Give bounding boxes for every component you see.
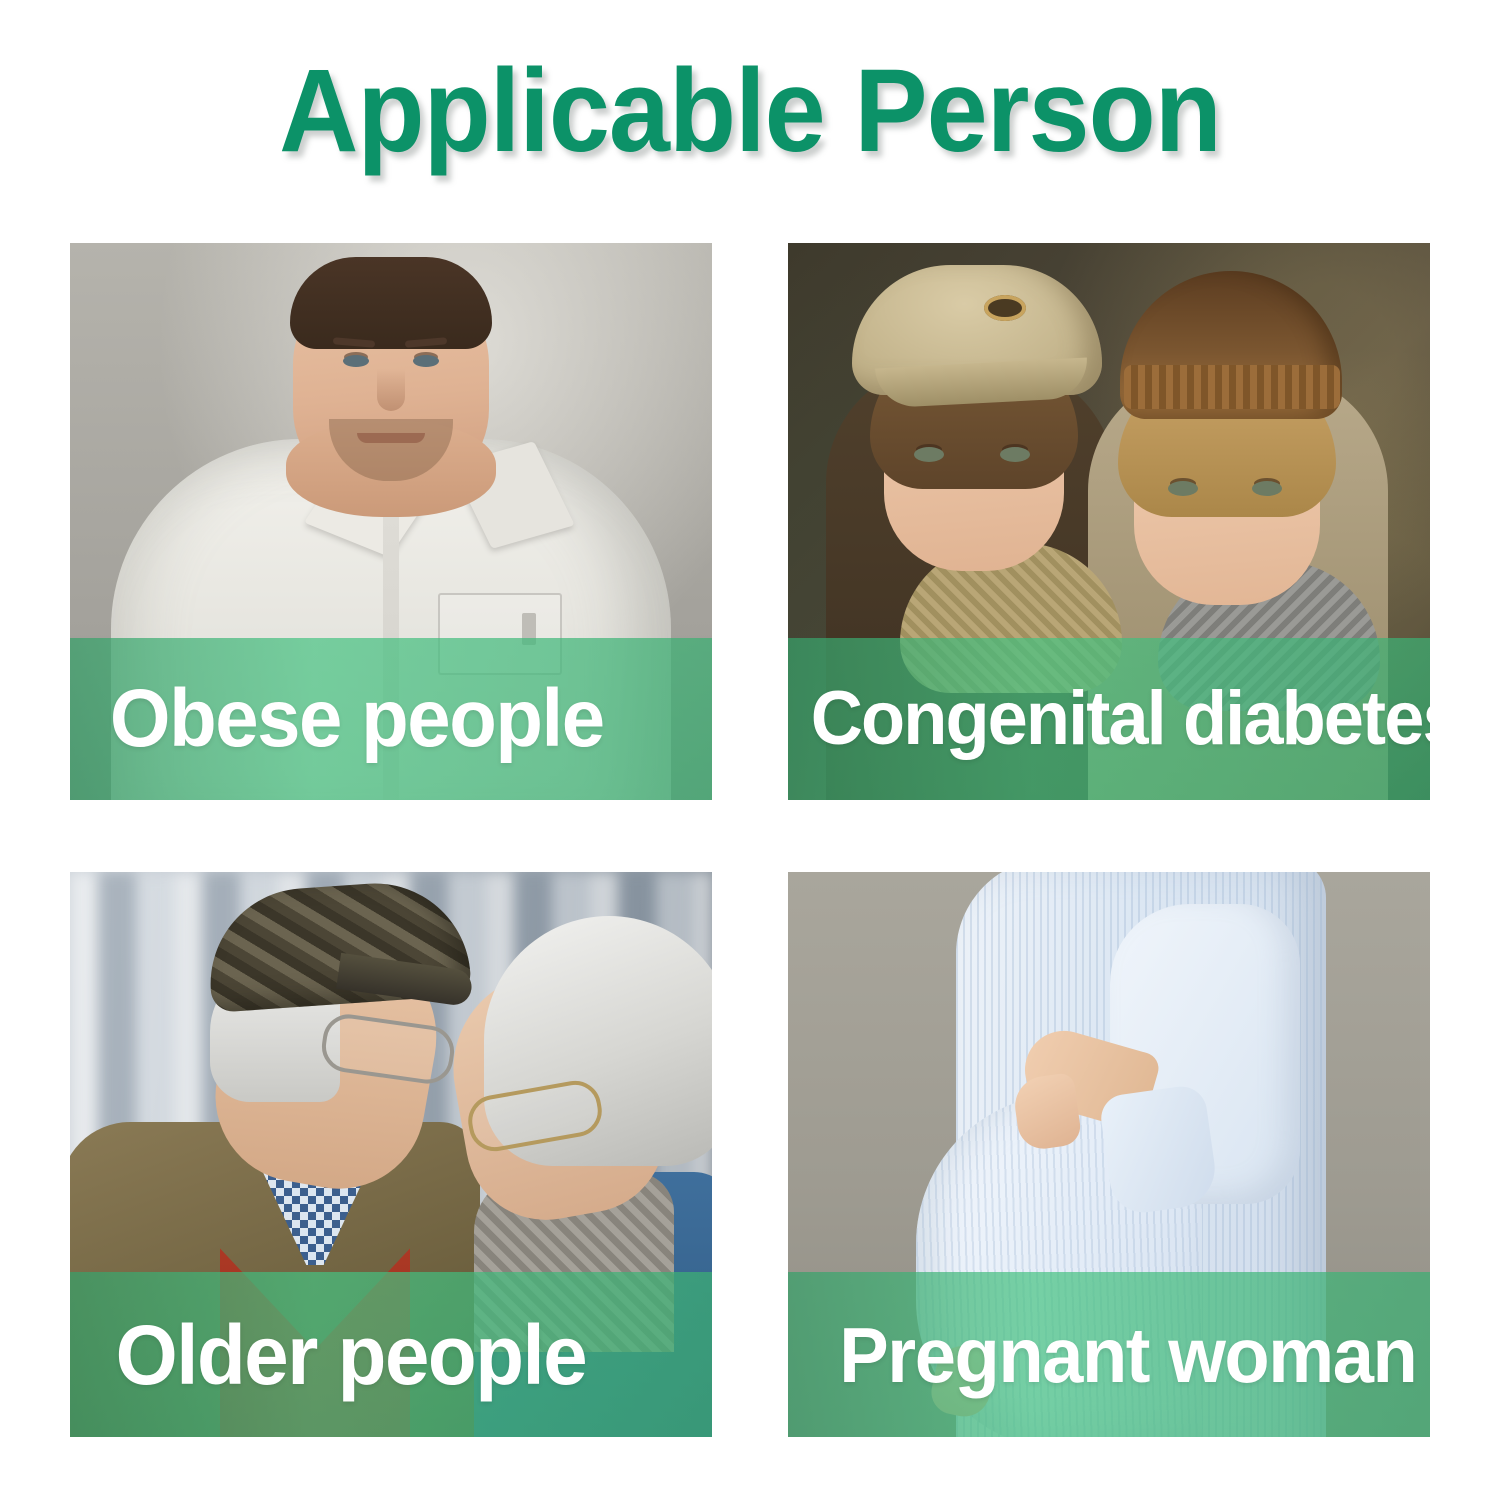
label-bar-congenital-diabetes: Congenital diabetes [788, 638, 1430, 800]
label-bar-older-people: Older people [70, 1272, 712, 1437]
page-title: Applicable Person [53, 52, 1448, 170]
applicable-person-infographic: Applicable Person [0, 0, 1500, 1500]
card-older-people[interactable]: Older people [70, 872, 712, 1437]
card-pregnant-woman[interactable]: Pregnant woman [788, 872, 1430, 1437]
label-bar-obese-people: Obese people [70, 638, 712, 800]
card-label-congenital-diabetes: Congenital diabetes [788, 681, 1430, 757]
card-label-pregnant-woman: Pregnant woman [788, 1316, 1416, 1394]
card-label-older-people: Older people [70, 1313, 586, 1397]
applicable-person-card-grid: Obese people [70, 243, 1430, 1437]
card-obese-people[interactable]: Obese people [70, 243, 712, 800]
card-congenital-diabetes[interactable]: Congenital diabetes [788, 243, 1430, 800]
label-bar-pregnant-woman: Pregnant woman [788, 1272, 1430, 1437]
card-label-obese-people: Obese people [70, 678, 604, 760]
